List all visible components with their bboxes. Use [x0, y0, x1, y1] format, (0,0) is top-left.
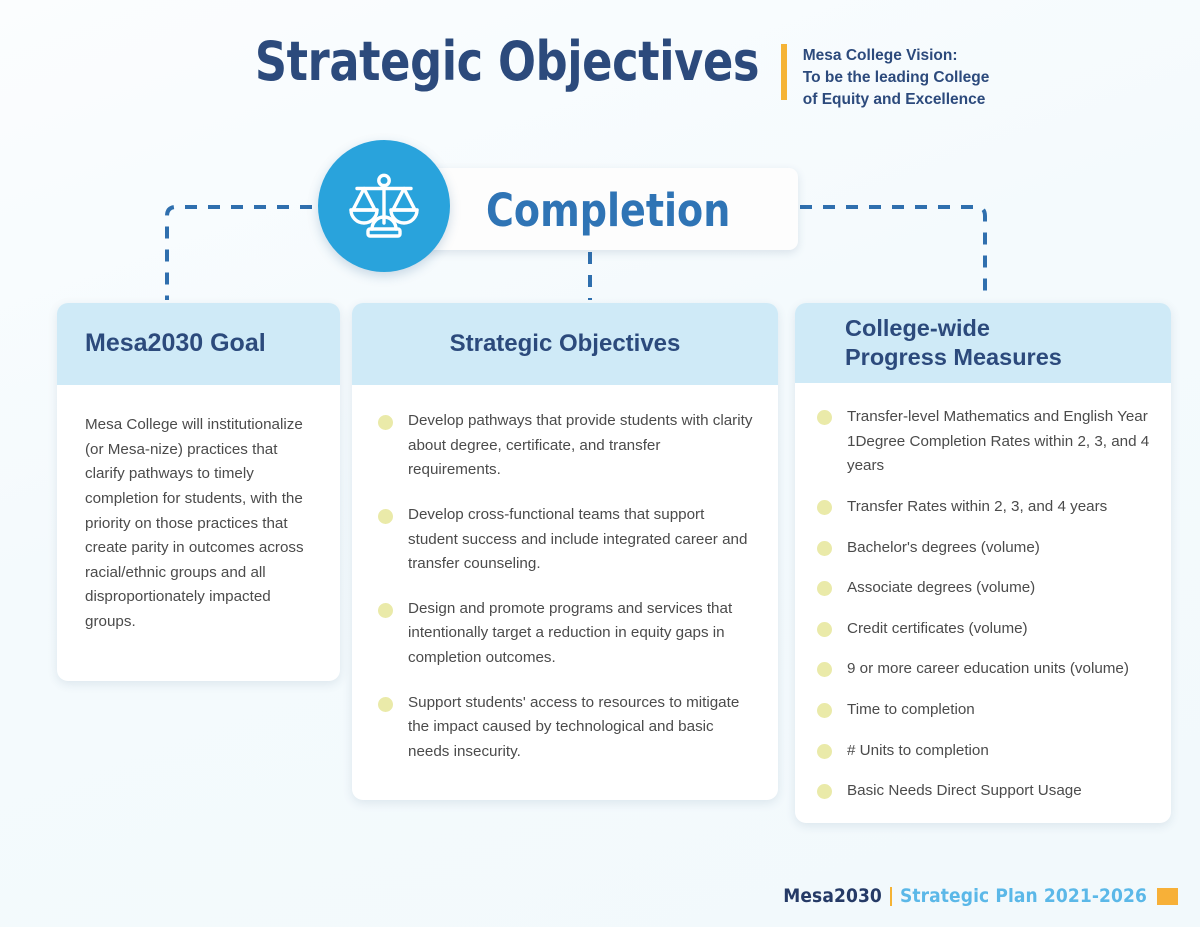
pillar-completion: Completion — [318, 140, 798, 270]
footer-plan-label: Strategic Plan 2021-2026 — [900, 885, 1147, 907]
card-measures-body: Transfer-level Mathematics and English Y… — [795, 383, 1171, 804]
vision-statement: Mesa College Vision: To be the leading C… — [803, 34, 990, 111]
list-item: Transfer-level Mathematics and English Y… — [815, 405, 1157, 479]
bullet-dot-icon — [817, 541, 832, 556]
list-item-text: Bachelor's degrees (volume) — [847, 539, 1040, 556]
list-item: Credit certificates (volume) — [815, 617, 1157, 642]
list-item: Time to completion — [815, 698, 1157, 723]
list-item-text: # Units to completion — [847, 742, 989, 759]
card-objectives-header: Strategic Objectives — [352, 303, 778, 385]
list-item-text: Design and promote programs and services… — [408, 600, 732, 666]
list-item-text: Credit certificates (volume) — [847, 620, 1028, 637]
list-item-text: Support students' access to resources to… — [408, 694, 739, 760]
list-item: Associate degrees (volume) — [815, 576, 1157, 601]
card-progress-measures: College-wide Progress Measures Transfer-… — [795, 303, 1171, 823]
objectives-list: Develop pathways that provide students w… — [352, 385, 778, 765]
bullet-dot-icon — [817, 662, 832, 677]
bullet-dot-icon — [817, 622, 832, 637]
bullet-dot-icon — [378, 415, 393, 430]
bullet-dot-icon — [817, 581, 832, 596]
footer-brand: Mesa2030 — [783, 885, 882, 907]
list-item-text: Time to completion — [847, 701, 975, 718]
card-objectives-title: Strategic Objectives — [450, 329, 681, 359]
list-item: Basic Needs Direct Support Usage — [815, 779, 1157, 804]
pillar-label: Completion — [486, 188, 730, 233]
footer-divider — [890, 887, 892, 906]
page-title: Strategic Objectives — [254, 34, 758, 91]
list-item-text: Develop pathways that provide students w… — [408, 412, 752, 478]
bullet-dot-icon — [378, 697, 393, 712]
bullet-dot-icon — [817, 410, 832, 425]
card-mesa2030-goal: Mesa2030 Goal Mesa College will institut… — [57, 303, 340, 681]
card-goal-header: Mesa2030 Goal — [57, 303, 340, 385]
bullet-dot-icon — [817, 784, 832, 799]
footer-accent-square-icon — [1157, 888, 1178, 905]
list-item-text: Associate degrees (volume) — [847, 579, 1035, 596]
bullet-dot-icon — [817, 500, 832, 515]
list-item: Support students' access to resources to… — [376, 691, 756, 765]
bullet-dot-icon — [817, 744, 832, 759]
card-goal-body: Mesa College will institutionalize (or M… — [57, 385, 340, 635]
bullet-dot-icon — [817, 703, 832, 718]
list-item-text: Transfer Rates within 2, 3, and 4 years — [847, 498, 1107, 515]
list-item: Transfer Rates within 2, 3, and 4 years — [815, 495, 1157, 520]
header-divider — [781, 44, 787, 100]
card-measures-title: College-wide Progress Measures — [845, 314, 1062, 373]
page-header: Strategic Objectives Mesa College Vision… — [0, 34, 1200, 111]
list-item-text: 9 or more career education units (volume… — [847, 660, 1129, 677]
card-objectives-body: Develop pathways that provide students w… — [352, 385, 778, 765]
card-measures-header: College-wide Progress Measures — [795, 303, 1171, 383]
list-item: Design and promote programs and services… — [376, 597, 756, 671]
goal-description: Mesa College will institutionalize (or M… — [57, 385, 340, 635]
bullet-dot-icon — [378, 509, 393, 524]
card-strategic-objectives: Strategic Objectives Develop pathways th… — [352, 303, 778, 800]
pillar-icon-circle — [318, 140, 450, 272]
balance-scale-icon — [345, 167, 423, 245]
list-item-text: Basic Needs Direct Support Usage — [847, 782, 1082, 799]
footer-branding: Mesa2030 Strategic Plan 2021-2026 — [783, 885, 1178, 907]
list-item: Bachelor's degrees (volume) — [815, 536, 1157, 561]
card-goal-title: Mesa2030 Goal — [85, 328, 266, 359]
measures-list: Transfer-level Mathematics and English Y… — [795, 383, 1171, 804]
list-item-text: Transfer-level Mathematics and English Y… — [847, 408, 1149, 474]
list-item: Develop pathways that provide students w… — [376, 409, 756, 483]
list-item: # Units to completion — [815, 739, 1157, 764]
bullet-dot-icon — [378, 603, 393, 618]
list-item: 9 or more career education units (volume… — [815, 657, 1157, 682]
list-item: Develop cross-functional teams that supp… — [376, 503, 756, 577]
list-item-text: Develop cross-functional teams that supp… — [408, 506, 747, 572]
